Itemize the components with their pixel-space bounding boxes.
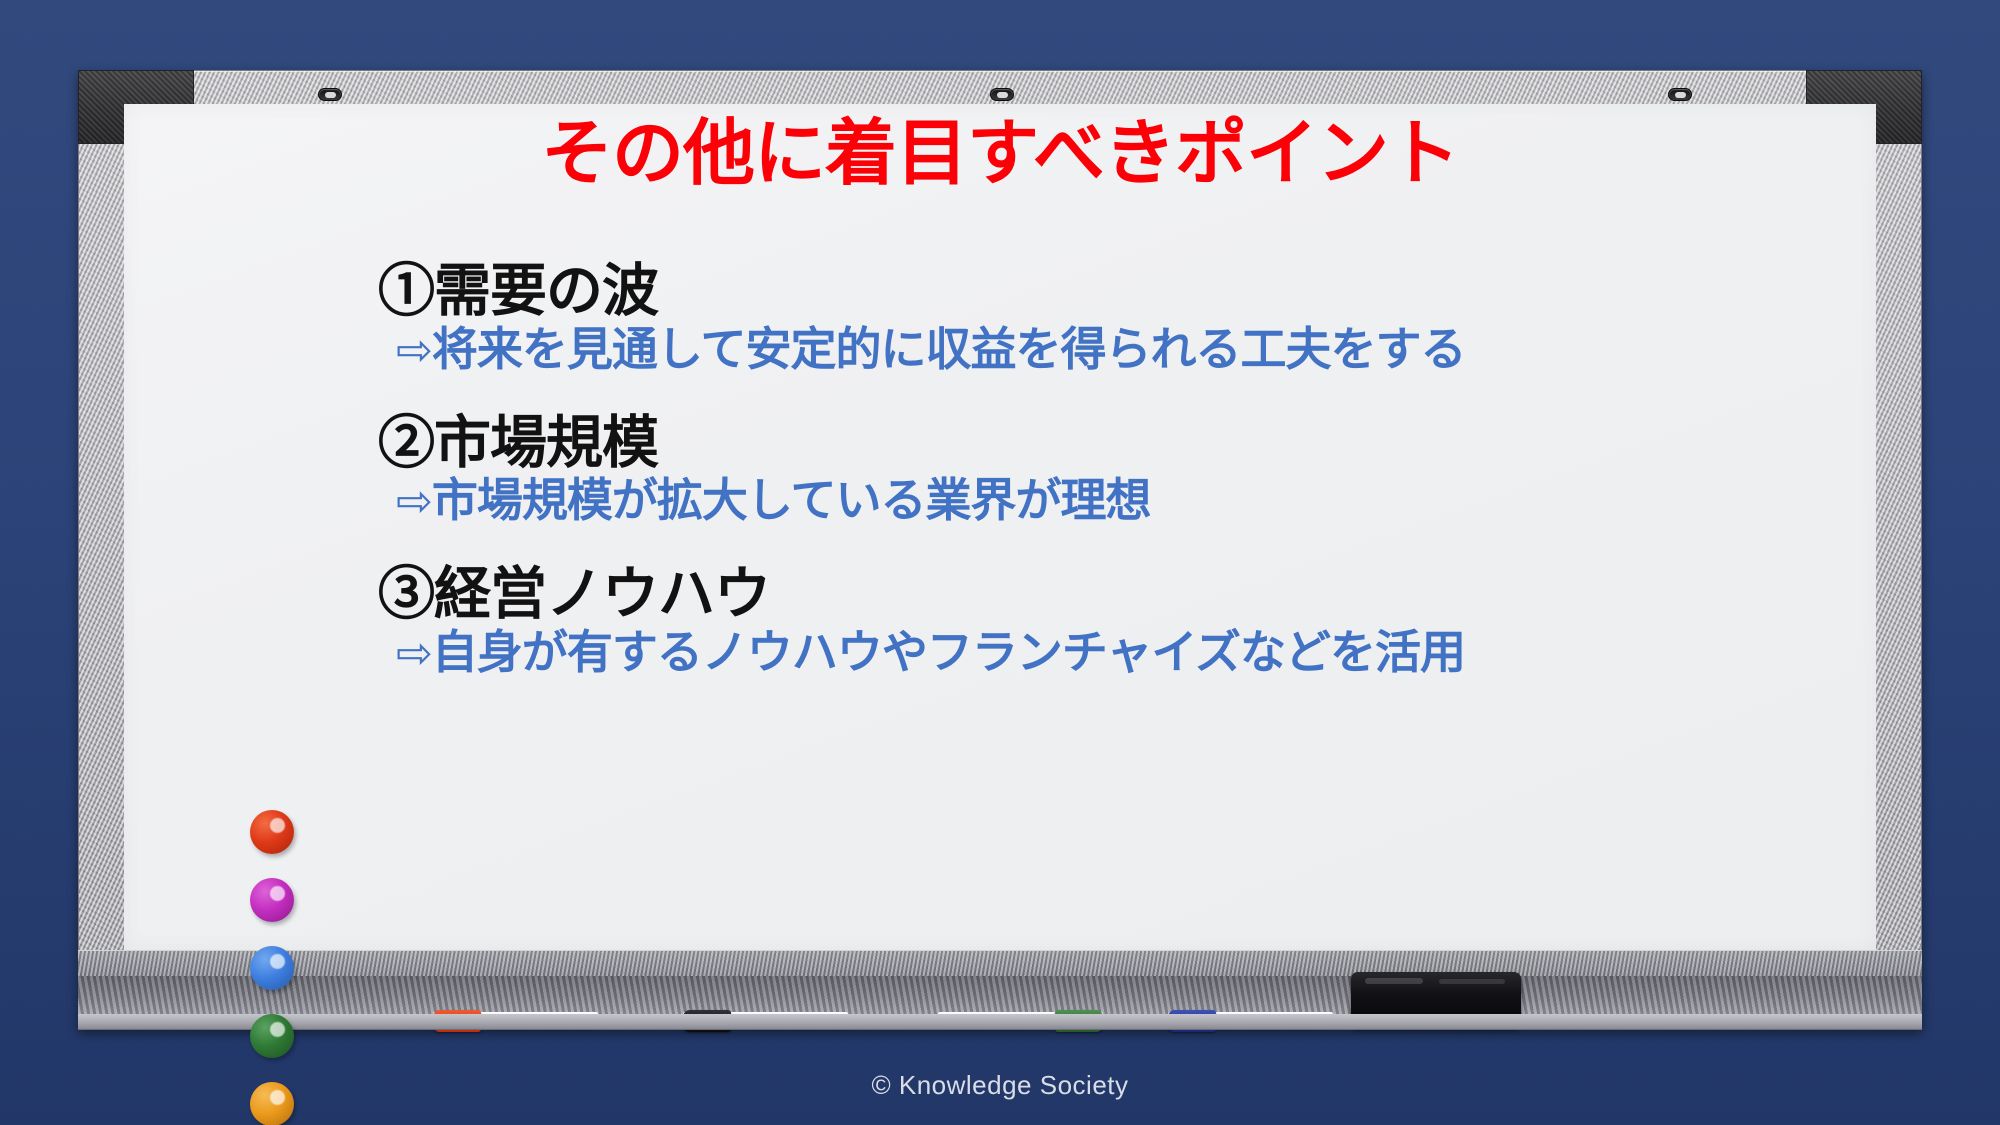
point-heading: ②市場規模 [378,412,1882,476]
point-detail: ⇨自身が有するノウハウやフランチャイズなどを活用 [396,625,1882,681]
right-arrow-icon: ⇨ [396,477,432,526]
slide: その他に着目すべきポイント ①需要の波 ⇨将来を見通して安定的に収益を得られる工… [0,0,2000,1125]
point-detail: ⇨市場規模が拡大している業界が理想 [396,473,1882,529]
point-detail-text: 自身が有するノウハウやフランチャイズなどを活用 [432,626,1465,678]
point-item: ①需要の波 ⇨将来を見通して安定的に収益を得られる工夫をする [378,260,1882,378]
point-heading: ③経営ノウハウ [378,563,1882,627]
right-arrow-icon: ⇨ [396,629,432,678]
point-item: ③経営ノウハウ ⇨自身が有するノウハウやフランチャイズなどを活用 [378,563,1882,681]
points-list: ①需要の波 ⇨将来を見通して安定的に収益を得られる工夫をする ②市場規模 ⇨市場… [378,260,1882,715]
slide-content: その他に着目すべきポイント ①需要の波 ⇨将来を見通して安定的に収益を得られる工… [78,70,1922,1030]
point-detail: ⇨将来を見通して安定的に収益を得られる工夫をする [396,322,1882,378]
footer-copyright: © Knowledge Society [0,1070,2000,1101]
point-heading: ①需要の波 [378,260,1882,324]
point-item: ②市場規模 ⇨市場規模が拡大している業界が理想 [378,412,1882,530]
point-detail-text: 将来を見通して安定的に収益を得られる工夫をする [432,323,1466,375]
slide-title: その他に着目すべきポイント [78,118,1922,190]
whiteboard: その他に着目すべきポイント ①需要の波 ⇨将来を見通して安定的に収益を得られる工… [78,70,1922,1030]
point-detail-text: 市場規模が拡大している業界が理想 [432,474,1151,526]
right-arrow-icon: ⇨ [396,326,432,375]
